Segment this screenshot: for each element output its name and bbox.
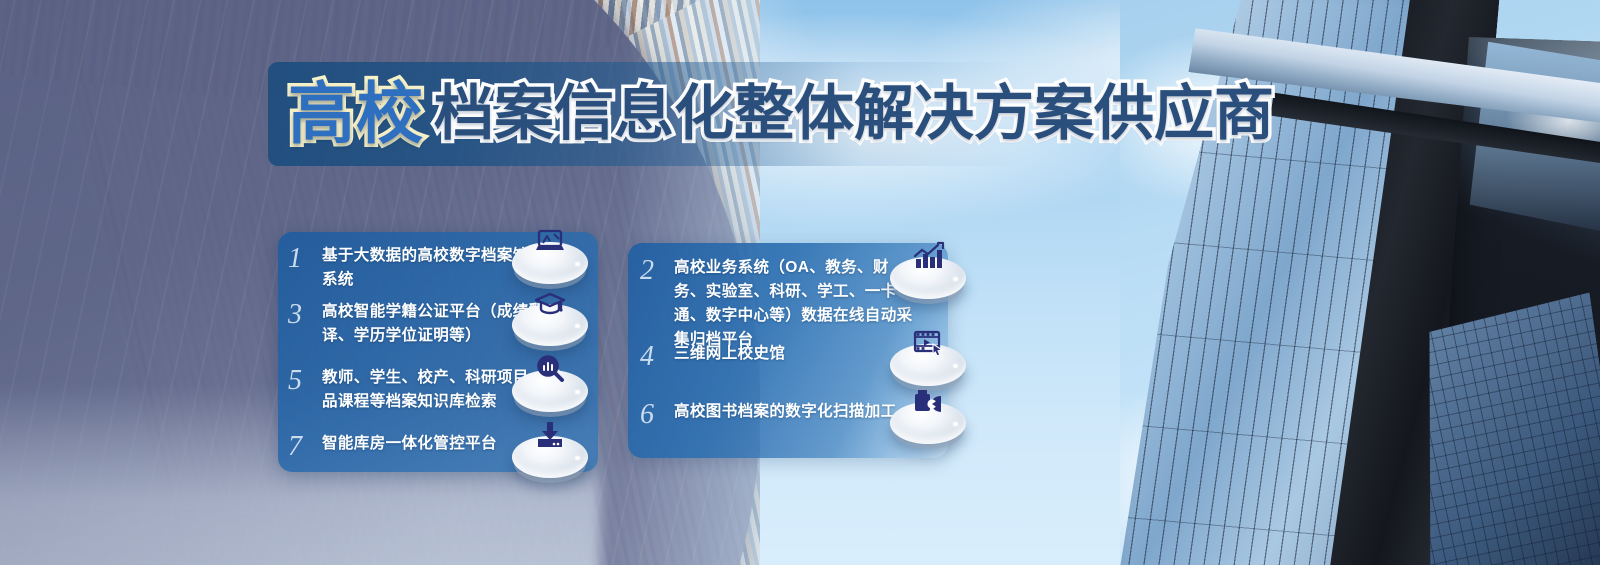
item-number: 7	[288, 432, 322, 461]
graduation-cap-icon	[512, 290, 588, 356]
item-number: 5	[288, 366, 322, 395]
item-number: 6	[640, 400, 674, 429]
hero-banner: 高校 档案信息化整体解决方案供应商 1 基于大数据的高校数字档案馆软件系统 3 …	[0, 0, 1600, 565]
list-item[interactable]: 6 高校图书档案的数字化扫描加工	[640, 400, 897, 429]
title-rest: 档案信息化整体解决方案供应商	[434, 84, 1274, 144]
item-number: 4	[640, 342, 674, 371]
item-label: 高校图书档案的数字化扫描加工	[674, 400, 897, 424]
list-item[interactable]: 2 高校业务系统（OA、教务、财务、实验室、科研、学工、一卡通、数字中心等）数据…	[640, 256, 920, 352]
list-item[interactable]: 4 三维网上校史馆	[640, 342, 785, 371]
item-label: 智能库房一体化管控平台	[322, 432, 497, 456]
item-number: 1	[288, 244, 322, 273]
title-row: 高校 档案信息化整体解决方案供应商	[268, 81, 1274, 148]
bar-chart-icon	[890, 243, 966, 309]
bottom-glow	[270, 475, 970, 565]
banner-title: 高校 档案信息化整体解决方案供应商	[268, 62, 1274, 166]
search-chart-icon	[512, 356, 588, 422]
scanner-camera-icon	[890, 388, 966, 454]
item-label: 三维网上校史馆	[674, 342, 785, 366]
title-highlight: 高校	[288, 81, 424, 148]
item-number: 3	[288, 300, 322, 329]
laptop-icon	[512, 228, 588, 294]
list-item[interactable]: 7 智能库房一体化管控平台	[288, 432, 497, 461]
item-number: 2	[640, 256, 674, 285]
item-label: 高校业务系统（OA、教务、财务、实验室、科研、学工、一卡通、数字中心等）数据在线…	[674, 256, 920, 352]
